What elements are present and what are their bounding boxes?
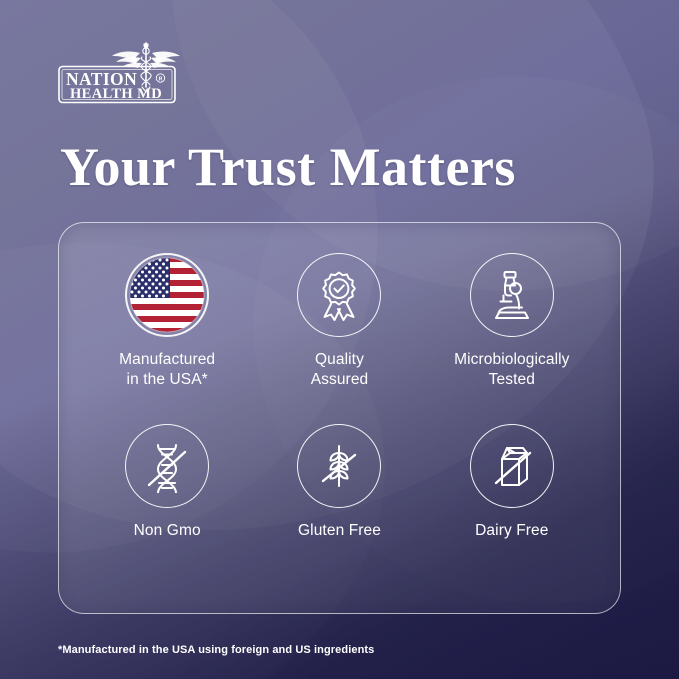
milk-carton-crossed-icon [470, 424, 554, 508]
brand-logo: NATION HEALTH MD R [56, 40, 206, 106]
badge-manufactured-usa: Manufactured in the USA* [81, 253, 253, 390]
badge-quality-assured: Quality Assured [253, 253, 425, 390]
usa-flag-icon [125, 253, 209, 337]
logo-wordmark-line2: HEALTH MD [70, 86, 162, 102]
footnote-disclaimer: *Manufactured in the USA using foreign a… [58, 644, 374, 656]
badge-dairy-free: Dairy Free [426, 424, 598, 541]
wheat-crossed-icon [297, 424, 381, 508]
svg-text:R: R [159, 77, 163, 83]
badge-non-gmo: Non Gmo [81, 424, 253, 541]
badge-label: Microbiologically Tested [454, 350, 569, 390]
promo-graphic: NATION HEALTH MD R Your Trust Matters [0, 0, 679, 679]
badge-microbiologically-tested: Microbiologically Tested [426, 253, 598, 390]
badge-label: Dairy Free [475, 521, 548, 541]
quality-rosette-icon [297, 253, 381, 337]
microscope-icon [470, 253, 554, 337]
badge-gluten-free: Gluten Free [253, 424, 425, 541]
caduceus-wings-icon: NATION HEALTH MD R [56, 40, 206, 106]
badge-label: Non Gmo [134, 521, 201, 541]
badge-label: Manufactured in the USA* [119, 350, 215, 390]
trust-badges-card: Manufactured in the USA* Quality Assured [58, 222, 621, 614]
dna-no-gmo-icon [125, 424, 209, 508]
badge-label: Gluten Free [298, 521, 381, 541]
page-title: Your Trust Matters [60, 139, 516, 196]
badge-label: Quality Assured [311, 350, 369, 390]
